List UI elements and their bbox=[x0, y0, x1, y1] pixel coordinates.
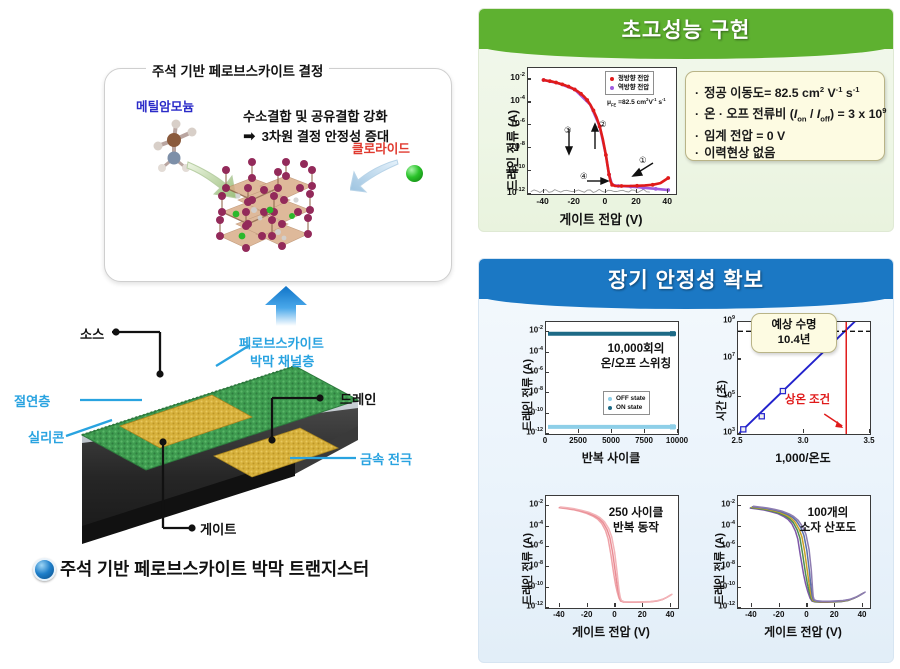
x-tick-label: 3.0 bbox=[781, 436, 825, 445]
chloride-label: 클로라이드 bbox=[352, 138, 410, 157]
performance-panel-header: 초고성능 구현 bbox=[479, 9, 893, 49]
mu-value: =82.5 cm bbox=[616, 99, 646, 106]
legend-dot-forward bbox=[610, 77, 614, 81]
x-tick-mark bbox=[677, 429, 678, 433]
x-tick-mark bbox=[574, 189, 575, 193]
x-tick-mark bbox=[605, 189, 606, 193]
perf-x-axis-label: 게이트 전압 (V) bbox=[527, 209, 675, 228]
y-tick-mark bbox=[545, 566, 549, 567]
y-tick-mark bbox=[737, 358, 741, 359]
cycling-x-axis-label: 게이트 전압 (V) bbox=[545, 623, 677, 640]
y-tick-mark bbox=[545, 331, 549, 332]
y-tick-mark bbox=[545, 352, 549, 353]
y-tick-mark bbox=[545, 505, 549, 506]
y-tick-label: 10-4 bbox=[511, 520, 543, 530]
y-tick-mark bbox=[737, 433, 741, 434]
y-tick-label: 10-4 bbox=[511, 346, 543, 356]
stability-panel-body: 드레인 전류 (A) 반복 사이클 02500500075001000010-2… bbox=[479, 299, 893, 662]
y-tick-label: 10-10 bbox=[493, 164, 525, 174]
y-tick-mark bbox=[527, 170, 531, 171]
chloride-arrow-icon bbox=[350, 158, 402, 198]
chloride-sphere-icon bbox=[406, 165, 423, 182]
y-tick-mark bbox=[545, 392, 549, 393]
bullet-mobility: 정공 이동도= 82.5 cm2 V-1 s-1 bbox=[695, 81, 884, 102]
cycling-annotation: 250 사이클 반복 동작 bbox=[597, 505, 675, 535]
lifetime-note-line2: 10.4년 bbox=[752, 333, 836, 348]
stability-panel: 장기 안정성 확보 드레인 전류 (A) 반복 사이클 025005000750… bbox=[478, 258, 894, 663]
expected-lifetime-note-text: 예상 수명 10.4년 bbox=[752, 314, 836, 348]
y-tick-mark bbox=[545, 607, 549, 608]
marker-4: ④ bbox=[580, 171, 588, 182]
y-tick-label: 10-6 bbox=[511, 366, 543, 376]
endurance-legend: OFF state ON state bbox=[603, 391, 650, 415]
device-label-channel-line2: 박막 채널층 bbox=[250, 351, 314, 370]
device-label-silicon: 실리콘 bbox=[28, 427, 64, 446]
x-tick-mark bbox=[587, 603, 588, 607]
x-tick-mark bbox=[862, 603, 863, 607]
endurance-svg bbox=[546, 322, 678, 434]
perovskite-lattice-illustration bbox=[208, 152, 348, 270]
mobility-annotation: μFE =82.5 cm2V-1 s-1 bbox=[607, 97, 666, 108]
figure-bottom-title: 주석 기반 페로브스카이트 박막 트랜지스터 bbox=[60, 556, 369, 581]
x-tick-mark bbox=[869, 429, 870, 433]
y-tick-mark bbox=[545, 587, 549, 588]
y-tick-label: 10-12 bbox=[703, 601, 735, 611]
methylammonium-label: 메틸암모늄 bbox=[136, 96, 194, 115]
performance-bullets: 정공 이동도= 82.5 cm2 V-1 s-1 온 · 오프 전류비 (Ion… bbox=[686, 72, 884, 162]
marker-1: ① bbox=[639, 155, 647, 166]
marker-3: ③ bbox=[564, 125, 572, 136]
y-tick-mark bbox=[527, 78, 531, 79]
device-label-gate: 게이트 bbox=[200, 519, 236, 538]
lifetime-y-axis-label: 시간 (초) bbox=[713, 380, 729, 421]
y-tick-mark bbox=[737, 587, 741, 588]
right-arrow-icon: ➡ bbox=[243, 127, 256, 145]
y-tick-label: 107 bbox=[703, 352, 735, 362]
device-label-metal-electrode: 금속 전극 bbox=[360, 449, 412, 468]
y-tick-label: 10-2 bbox=[511, 499, 543, 509]
y-tick-label: 109 bbox=[703, 315, 735, 325]
y-tick-label: 10-8 bbox=[493, 141, 525, 151]
y-tick-mark bbox=[737, 505, 741, 506]
x-tick-label: 40 bbox=[840, 610, 884, 619]
y-tick-label: 10-8 bbox=[511, 386, 543, 396]
device-label-drain: 드레인 bbox=[340, 389, 376, 408]
bullet-no-hysteresis: 이력현상 없음 bbox=[695, 145, 884, 162]
performance-panel-body: 드레인 전류 (A) 게이트 전압 (V) -40-200204010-210-… bbox=[479, 49, 893, 231]
perf-legend: 정방향 전압 역방향 전압 bbox=[605, 71, 654, 95]
legend-dot-off-state bbox=[608, 397, 612, 401]
y-tick-label: 10-4 bbox=[703, 520, 735, 530]
x-tick-mark bbox=[642, 603, 643, 607]
bullet-circle-icon bbox=[33, 558, 56, 581]
y-tick-label: 10-4 bbox=[493, 95, 525, 105]
cycling-annotation-line2: 반복 동작 bbox=[597, 520, 675, 535]
y-tick-label: 10-8 bbox=[511, 560, 543, 570]
y-tick-label: 10-10 bbox=[703, 581, 735, 591]
x-tick-mark bbox=[559, 603, 560, 607]
performance-bullets-box: 정공 이동도= 82.5 cm2 V-1 s-1 온 · 오프 전류비 (Ion… bbox=[685, 71, 885, 161]
mu-sup3: -1 bbox=[662, 97, 666, 102]
device-label-insulator: 절연층 bbox=[14, 391, 50, 410]
uniformity-x-axis-label: 게이트 전압 (V) bbox=[737, 623, 869, 640]
endurance-annotation-line1: 10,000회의 bbox=[597, 341, 675, 356]
x-tick-mark bbox=[779, 603, 780, 607]
marker-2: ② bbox=[599, 119, 607, 130]
uniformity-annotation-line2: 소자 산포도 bbox=[789, 520, 867, 535]
stability-panel-header: 장기 안정성 확보 bbox=[479, 259, 893, 299]
y-tick-mark bbox=[737, 607, 741, 608]
legend-dot-on-state bbox=[608, 406, 612, 410]
device-label-source: 소스 bbox=[80, 324, 104, 343]
endurance-x-axis-label: 반복 사이클 bbox=[545, 449, 677, 466]
x-tick-mark bbox=[803, 429, 804, 433]
y-tick-label: 10-10 bbox=[511, 407, 543, 417]
y-tick-mark bbox=[527, 193, 531, 194]
crystal-annotation-line1: 수소결합 및 공유결합 강화 bbox=[243, 106, 387, 125]
lifetime-x-axis-label: 1,000/온도 bbox=[737, 449, 869, 466]
x-tick-label: 10000 bbox=[655, 436, 699, 445]
y-tick-mark bbox=[527, 147, 531, 148]
x-tick-mark bbox=[614, 603, 615, 607]
y-tick-mark bbox=[737, 396, 741, 397]
x-tick-mark bbox=[611, 429, 612, 433]
legend-label-off-state: OFF state bbox=[616, 394, 645, 403]
perf-legend-item-reverse: 역방향 전압 bbox=[610, 83, 649, 92]
x-tick-label: 40 bbox=[645, 196, 689, 206]
x-tick-mark bbox=[834, 603, 835, 607]
device-schematic: 소스 드레인 게이트 절연층 실리콘 페로브스카이트 박막 채널층 금속 전극 bbox=[0, 300, 470, 600]
y-tick-label: 105 bbox=[703, 390, 735, 400]
bullet-threshold-voltage: 임계 전압 = 0 V bbox=[695, 128, 884, 145]
y-tick-label: 10-12 bbox=[511, 427, 543, 437]
y-tick-mark bbox=[737, 321, 741, 322]
legend-dot-reverse bbox=[610, 86, 614, 90]
y-tick-mark bbox=[545, 526, 549, 527]
device-label-channel-line1: 페로브스카이트 bbox=[239, 333, 324, 352]
y-tick-label: 10-10 bbox=[511, 581, 543, 591]
y-tick-label: 10-6 bbox=[703, 540, 735, 550]
y-tick-mark bbox=[527, 101, 531, 102]
endurance-legend-off: OFF state bbox=[608, 394, 645, 403]
legend-label-reverse: 역방향 전압 bbox=[618, 83, 649, 92]
x-tick-label: 2.5 bbox=[715, 436, 759, 445]
cycling-annotation-line1: 250 사이클 bbox=[597, 505, 675, 520]
x-tick-mark bbox=[636, 189, 637, 193]
lifetime-note-line1: 예상 수명 bbox=[752, 318, 836, 333]
x-tick-mark bbox=[806, 603, 807, 607]
x-tick-mark bbox=[751, 603, 752, 607]
y-tick-mark bbox=[737, 546, 741, 547]
y-tick-mark bbox=[737, 566, 741, 567]
y-tick-label: 103 bbox=[703, 427, 735, 437]
y-tick-mark bbox=[737, 526, 741, 527]
y-tick-label: 10-12 bbox=[511, 601, 543, 611]
transfer-curve-plot bbox=[527, 67, 677, 195]
y-tick-mark bbox=[545, 546, 549, 547]
stability-panel-title: 장기 안정성 확보 bbox=[608, 264, 764, 294]
y-tick-mark bbox=[545, 413, 549, 414]
endurance-annotation: 10,000회의 온/오프 스위칭 bbox=[597, 341, 675, 371]
y-tick-label: 10-2 bbox=[493, 72, 525, 82]
y-tick-label: 10-2 bbox=[703, 499, 735, 509]
x-tick-mark bbox=[667, 189, 668, 193]
uniformity-annotation-line1: 100개의 bbox=[789, 505, 867, 520]
room-temp-label: 상온 조건 bbox=[785, 391, 830, 407]
y-tick-label: 10-6 bbox=[511, 540, 543, 550]
y-tick-label: 10-6 bbox=[493, 118, 525, 128]
perf-legend-item-forward: 정방향 전압 bbox=[610, 74, 649, 83]
y-tick-mark bbox=[545, 433, 549, 434]
y-tick-label: 10-12 bbox=[493, 187, 525, 197]
crystal-card-title: 주석 기반 페로브스카이트 결정 bbox=[146, 60, 329, 81]
y-tick-mark bbox=[545, 372, 549, 373]
legend-label-forward: 정방향 전압 bbox=[618, 74, 649, 83]
y-tick-mark bbox=[527, 124, 531, 125]
uniformity-annotation: 100개의 소자 산포도 bbox=[789, 505, 867, 535]
legend-label-on-state: ON state bbox=[616, 403, 642, 412]
performance-panel: 초고성능 구현 드레인 전류 (A) 게이트 전압 (V) -40-200204… bbox=[478, 8, 894, 232]
endurance-legend-on: ON state bbox=[608, 403, 645, 412]
x-tick-mark bbox=[578, 429, 579, 433]
expected-lifetime-note: 예상 수명 10.4년 bbox=[751, 313, 837, 353]
endurance-plot bbox=[545, 321, 679, 435]
x-tick-mark bbox=[543, 189, 544, 193]
y-tick-label: 10-2 bbox=[511, 325, 543, 335]
x-tick-mark bbox=[644, 429, 645, 433]
x-tick-label: 3.5 bbox=[847, 436, 891, 445]
endurance-annotation-line2: 온/오프 스위칭 bbox=[597, 356, 675, 371]
bullet-onoff-ratio: 온 · 오프 전류비 (Ion / Ioff) = 3 x 109 bbox=[695, 102, 884, 128]
x-tick-label: 40 bbox=[648, 610, 692, 619]
y-tick-label: 10-8 bbox=[703, 560, 735, 570]
x-tick-mark bbox=[670, 603, 671, 607]
performance-panel-title: 초고성능 구현 bbox=[622, 14, 751, 44]
